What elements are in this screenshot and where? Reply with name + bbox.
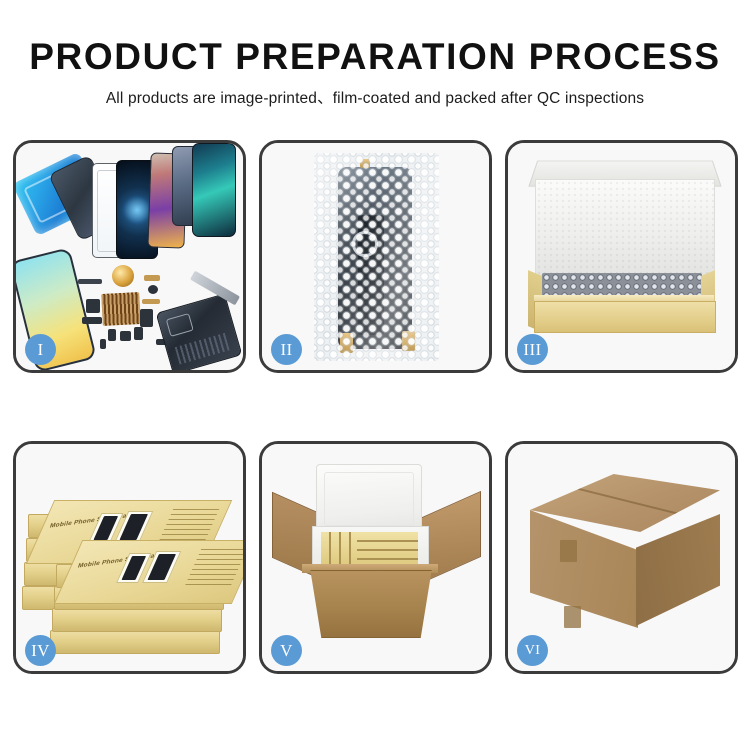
step-1-badge: I (25, 334, 56, 365)
process-step-6: VI (505, 441, 738, 674)
process-step-4: Mobile Phone Spare Parts Mobile Phone Sp… (13, 441, 246, 674)
carton-tape-lower (564, 606, 581, 628)
spare-part (144, 275, 160, 281)
step-2-badge: II (271, 334, 302, 365)
kraft-boxes-inside (321, 532, 418, 568)
spare-part (142, 299, 160, 304)
spare-part (108, 329, 116, 341)
spare-part (120, 331, 131, 341)
kraft-box-layer (50, 630, 220, 654)
process-step-3: III (505, 140, 738, 373)
bubble-wrap-bag (314, 153, 439, 361)
step-2-illustration (262, 143, 489, 370)
spare-part (134, 327, 143, 340)
spare-part (86, 299, 100, 313)
kraft-box-stack: Mobile Phone Spare Parts Mobile Phone Sp… (16, 444, 243, 671)
gold-component (112, 265, 134, 287)
step-5-badge: V (271, 635, 302, 666)
carton-tape-upper (560, 540, 577, 562)
page-title: PRODUCT PREPARATION PROCESS (0, 0, 750, 77)
box-spec-lines (185, 549, 246, 585)
spare-part (100, 339, 106, 349)
carton-front-panel (302, 570, 440, 638)
spare-part (78, 279, 102, 284)
phone-back-housing (156, 293, 243, 373)
plastic-sheen (314, 153, 439, 361)
carton-right-face (636, 514, 720, 626)
spare-part (140, 309, 153, 327)
process-step-5: V (259, 441, 492, 674)
process-step-grid: I II III (13, 140, 739, 674)
kraft-tray-front (534, 301, 716, 333)
step-4-badge: IV (25, 635, 56, 666)
spare-part (148, 285, 158, 294)
step-4-illustration: Mobile Phone Spare Parts Mobile Phone Sp… (16, 444, 243, 671)
kraft-box-top-front: Mobile Phone Spare Parts (54, 540, 246, 604)
step-1-illustration (16, 143, 243, 370)
foam-cooler-lid (316, 464, 422, 534)
step-6-illustration (508, 444, 735, 671)
process-step-2: II (259, 140, 492, 373)
header: PRODUCT PREPARATION PROCESS All products… (0, 0, 750, 108)
step-3-illustration (508, 143, 735, 370)
phone-teal-screen (192, 143, 236, 237)
chip-grid-component (101, 292, 141, 326)
step-6-badge: VI (517, 635, 548, 666)
step-3-badge: III (517, 334, 548, 365)
kraft-box-layer (52, 608, 222, 632)
page-subtitle: All products are image-printed、film-coat… (0, 77, 750, 108)
spare-part (82, 317, 102, 324)
process-step-1: I (13, 140, 246, 373)
carton-seam (555, 482, 699, 520)
step-5-illustration (262, 444, 489, 671)
white-foam-sheet (535, 179, 715, 283)
